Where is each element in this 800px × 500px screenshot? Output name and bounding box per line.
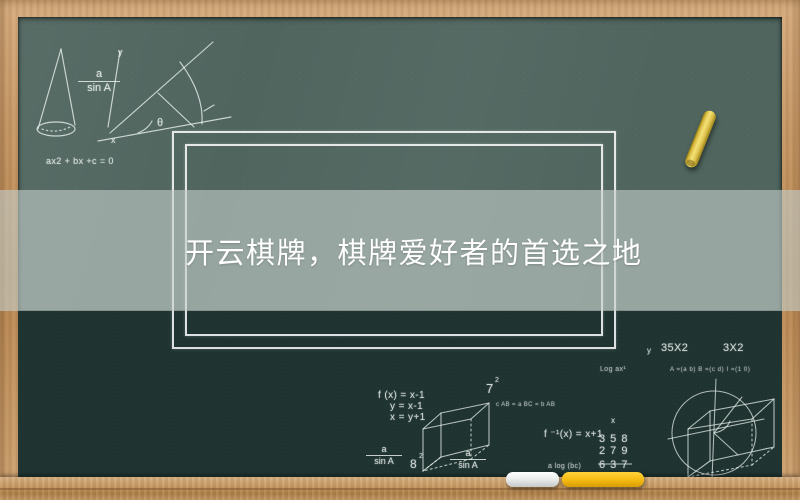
headline-band: 开云棋牌，棋牌爱好者的首选之地 — [0, 190, 800, 311]
chalk-ledge — [0, 477, 800, 500]
chalk-piece-white — [506, 472, 559, 487]
ledge-lip — [0, 488, 800, 490]
chalkboard-banner: y x θ ax2 + bx +c = 0 a sin A — [0, 0, 800, 500]
chalk-piece-yellow — [562, 472, 644, 487]
page-title: 开云棋牌，棋牌爱好者的首选之地 — [185, 230, 643, 272]
